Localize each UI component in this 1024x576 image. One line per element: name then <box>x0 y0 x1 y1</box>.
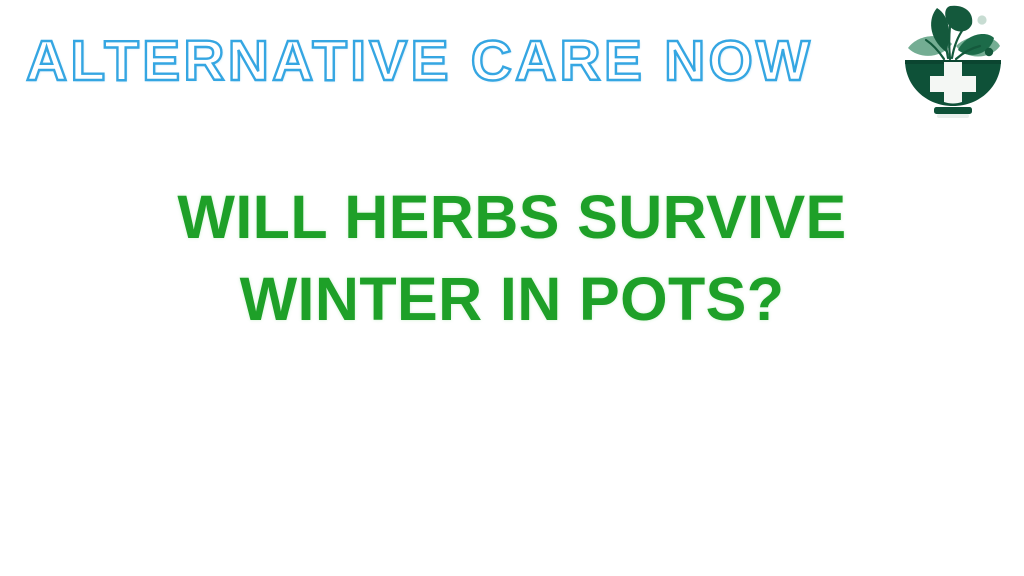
slide-canvas: ALTERNATIVE CARE NOW <box>0 0 1024 576</box>
headline-line-2: WINTER IN POTS? <box>0 258 1024 340</box>
headline-block: WILL HERBS SURVIVE WINTER IN POTS? <box>0 176 1024 340</box>
dot-light <box>977 15 986 24</box>
headline-line-1: WILL HERBS SURVIVE <box>0 176 1024 258</box>
brand-title: ALTERNATIVE CARE NOW <box>26 33 813 90</box>
mortar-base <box>934 107 972 118</box>
content-area-empty <box>0 348 1024 576</box>
dot-dark <box>985 48 993 56</box>
brand-logo <box>890 2 1016 128</box>
brand-header: ALTERNATIVE CARE NOW <box>0 0 1024 134</box>
